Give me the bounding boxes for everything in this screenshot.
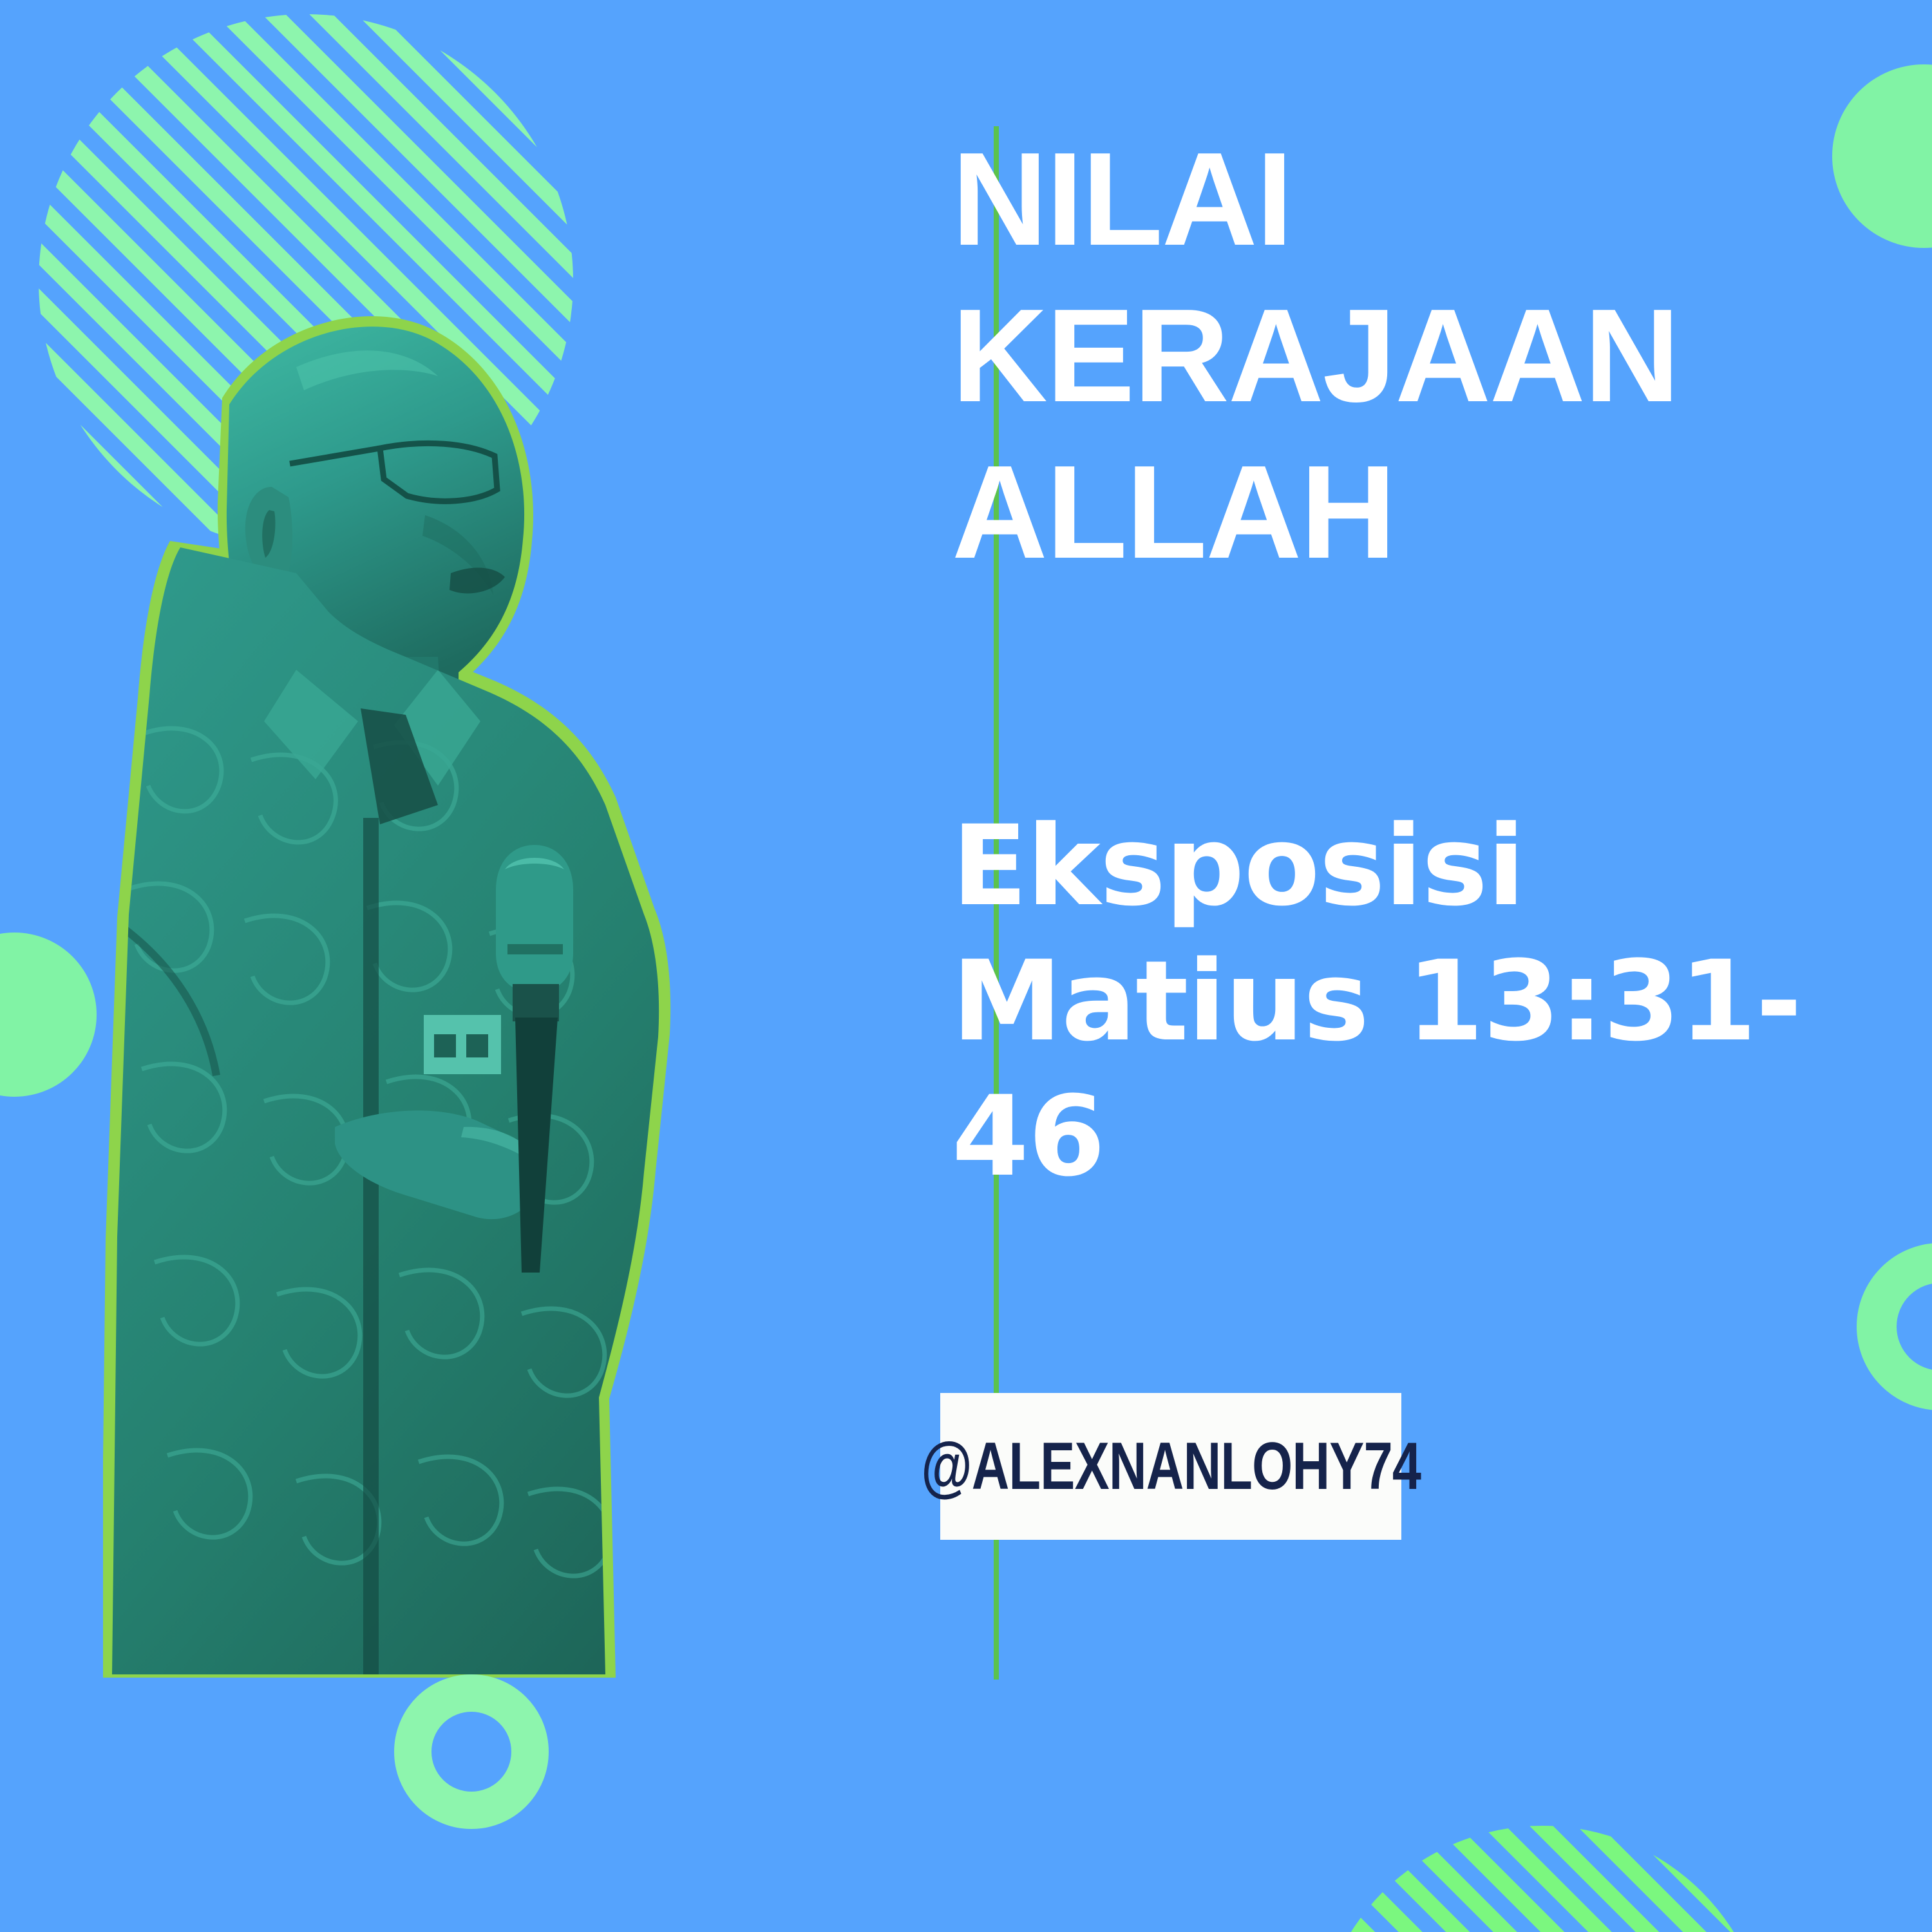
- social-handle-text: @ALEXNANLOHY74: [921, 1428, 1421, 1505]
- ring-decoration-bottom: [394, 1674, 549, 1829]
- text-column: NILAI KERAJAAN ALLAH Eksposisi Matius 13…: [952, 0, 1886, 1932]
- solid-circle-decoration-left: [0, 933, 97, 1097]
- subtitle: Eksposisi Matius 13:31-46: [952, 799, 1841, 1204]
- handle-badge: @ALEXNANLOHY74: [940, 1393, 1401, 1540]
- page-title: NILAI KERAJAAN ALLAH: [952, 121, 1841, 591]
- poster-canvas: NILAI KERAJAAN ALLAH Eksposisi Matius 13…: [0, 0, 1932, 1932]
- speaker-photo: [103, 270, 863, 1678]
